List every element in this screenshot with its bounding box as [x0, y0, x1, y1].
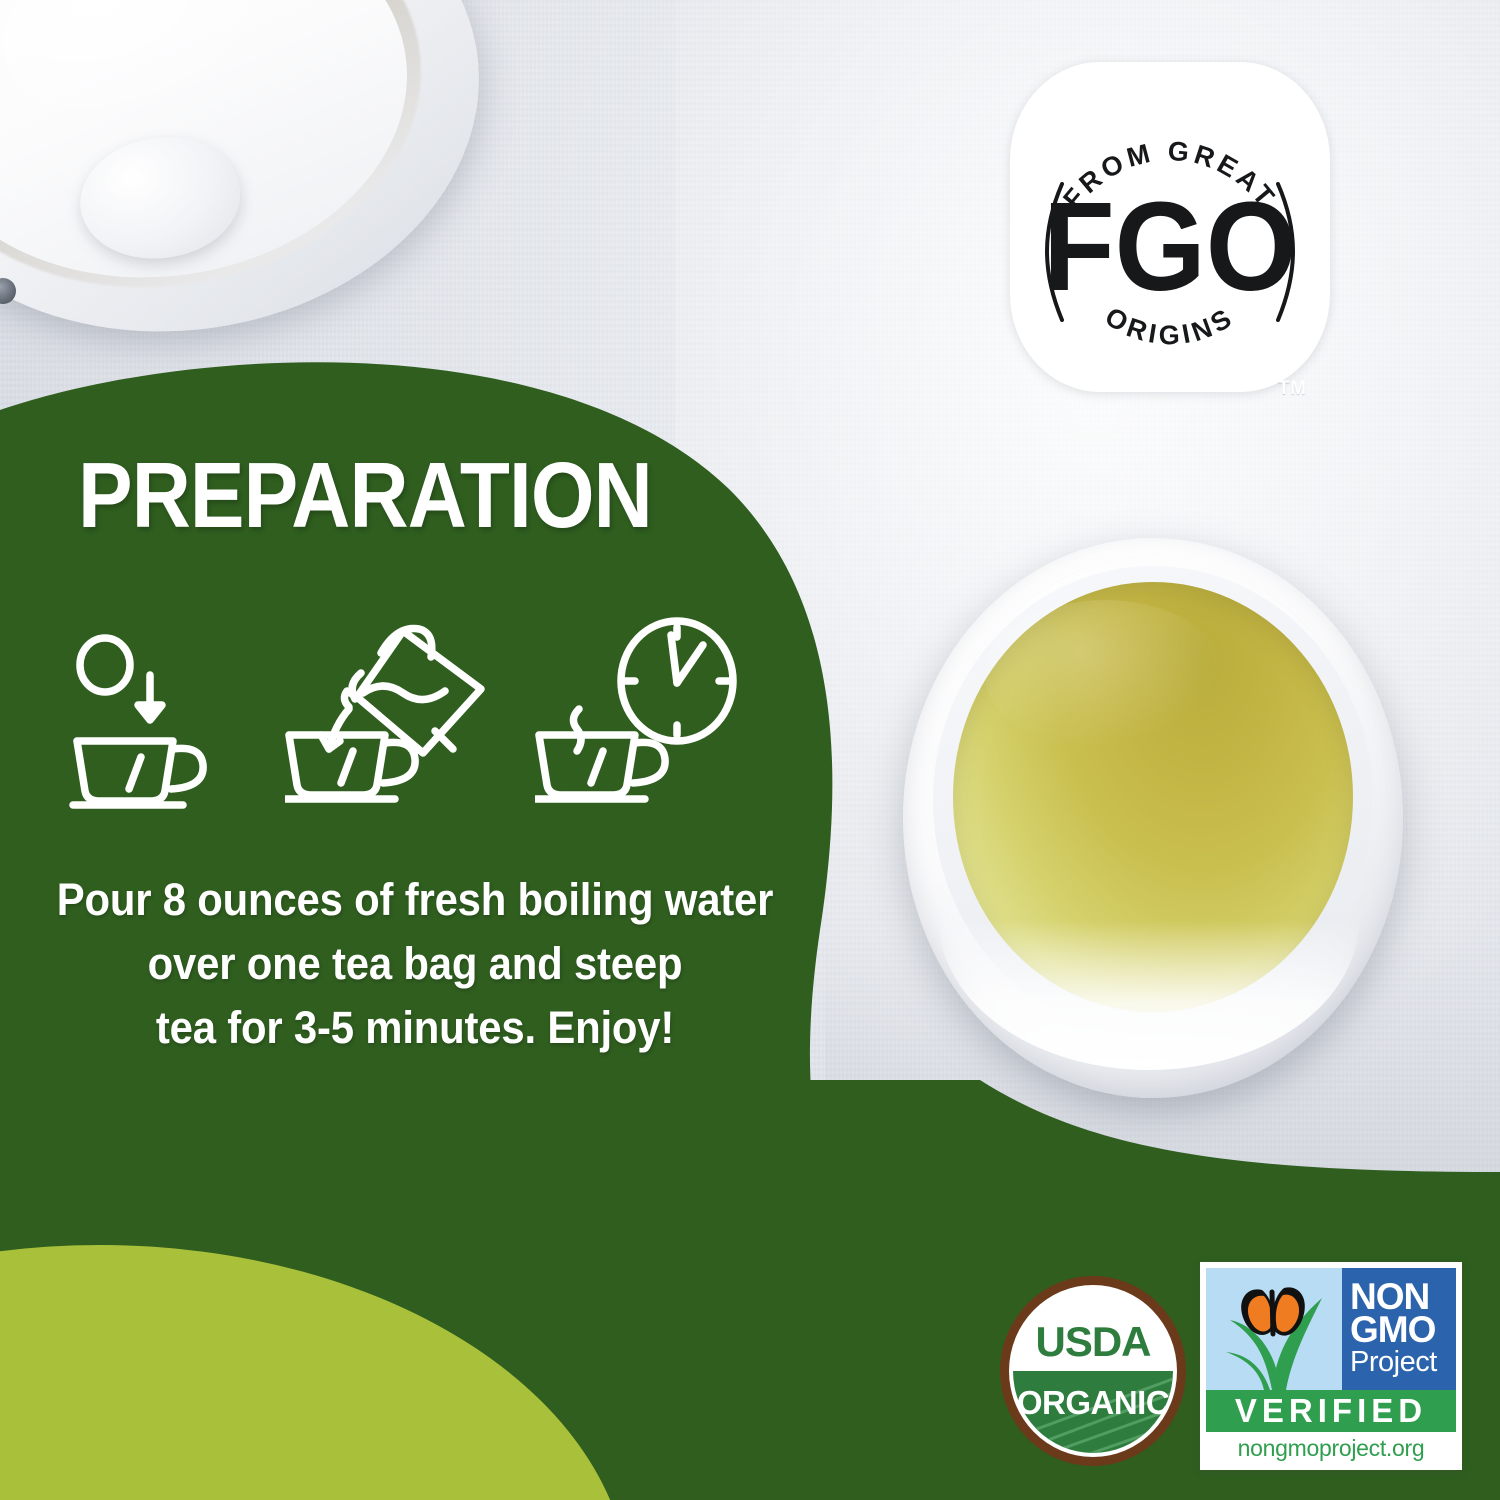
nongmo-line-3: Project: [1350, 1348, 1456, 1377]
instruction-line-3: tea for 3-5 minutes. Enjoy!: [48, 996, 783, 1060]
nongmo-verified-bar: VERIFIED: [1206, 1390, 1456, 1432]
trademark-symbol: TM: [1278, 378, 1306, 400]
preparation-instructions: Pour 8 ounces of fresh boiling water ove…: [48, 868, 783, 1060]
instruction-line-1: Pour 8 ounces of fresh boiling water: [48, 868, 783, 932]
usda-bottom-text: ORGANIC: [1017, 1384, 1169, 1421]
cup-with-clock-icon: [535, 613, 750, 813]
monarch-butterfly-icon: [1241, 1287, 1305, 1335]
nongmo-text-block: NON GMO Project: [1342, 1268, 1456, 1390]
page-title: PREPARATION: [78, 452, 652, 539]
preparation-steps: [55, 608, 795, 818]
non-gmo-project-verified-badge: NON GMO Project VERIFIED nongmoproject.o…: [1200, 1262, 1462, 1470]
butterfly-and-grass-icon: [1206, 1268, 1342, 1390]
kettle-pouring-water-icon: [285, 613, 500, 813]
fgo-monogram: FGO: [1043, 176, 1297, 317]
teacup-of-green-tea: [895, 520, 1425, 1120]
nongmo-line-2: GMO: [1350, 1313, 1456, 1348]
fgo-logo: FROM GREAT ORIGINS FGO: [1010, 62, 1330, 392]
product-infographic: FROM GREAT ORIGINS FGO TM PREPARATION: [0, 0, 1500, 1500]
usda-organic-seal-artwork: USDA ORGANIC: [995, 1272, 1191, 1470]
instruction-line-2: over one tea bag and steep: [48, 932, 783, 996]
kettle-lid: [0, 0, 520, 420]
nongmo-url: nongmoproject.org: [1206, 1432, 1456, 1464]
usda-organic-seal: USDA ORGANIC: [995, 1272, 1191, 1470]
usda-top-text: USDA: [1035, 1318, 1151, 1365]
fgo-logo-artwork: FROM GREAT ORIGINS FGO: [1010, 62, 1330, 392]
nongmo-top-section: NON GMO Project: [1206, 1268, 1456, 1390]
step-3: [535, 613, 775, 818]
nongmo-artwork: [1206, 1268, 1342, 1390]
tea-surface-highlight: [985, 600, 1225, 750]
tea-bag-into-cup-icon: [55, 623, 245, 813]
step-2: [285, 613, 535, 818]
step-1: [55, 623, 285, 818]
